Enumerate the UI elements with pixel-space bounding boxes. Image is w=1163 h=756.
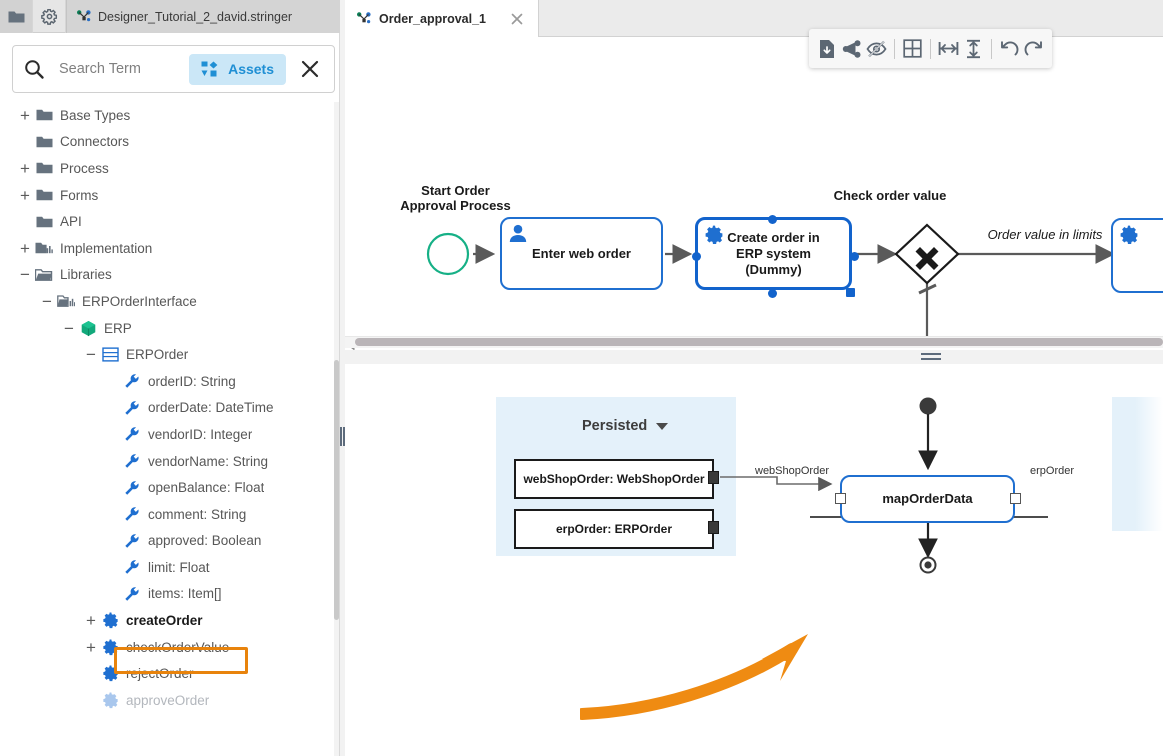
close-icon[interactable] [508, 10, 526, 28]
diagram-hscrollbar-thumb[interactable] [355, 338, 1163, 346]
tree-item-label: ERPOrder [126, 347, 188, 362]
toolbar-divider [991, 39, 992, 59]
tree-item-comment[interactable]: comment: String [0, 501, 339, 528]
tree-toggle-spacer [104, 585, 122, 603]
output-pin[interactable] [1010, 493, 1021, 504]
right-group-panel [1112, 397, 1163, 531]
tree-item-limit[interactable]: limit: Float [0, 554, 339, 581]
tree-item-label: Forms [60, 188, 98, 203]
hide-icon[interactable] [865, 34, 890, 64]
type-icon [100, 346, 120, 364]
tree-item-label: Base Types [60, 108, 130, 123]
tree-item-label: approveOrder [126, 693, 209, 708]
operation-icon [100, 638, 120, 656]
tree-item-erporder[interactable]: −ERPOrder [0, 341, 339, 368]
fit-width-icon[interactable] [936, 34, 961, 64]
tree-item-connectors[interactable]: Connectors [0, 129, 339, 156]
input-pin-label: webShopOrder [755, 465, 829, 477]
tree-item-label: Process [60, 161, 109, 176]
tree-item-createorder[interactable]: +createOrder [0, 607, 339, 634]
tree-toggle-spacer [16, 213, 34, 231]
toolbar-divider [930, 39, 931, 59]
assets-chip-label: Assets [228, 61, 274, 77]
share-icon[interactable] [840, 34, 865, 64]
folder-icon[interactable] [0, 0, 33, 33]
operation-icon [100, 612, 120, 630]
tree-item-approved[interactable]: approved: Boolean [0, 528, 339, 555]
tree-item-label: createOrder [126, 613, 203, 628]
grid-icon[interactable] [900, 34, 925, 64]
tree-item-label: items: Item[] [148, 586, 222, 601]
assets-filter-chip[interactable]: Assets [189, 54, 286, 85]
drag-annotation-arrow [580, 619, 900, 729]
tree-toggle-spacer [104, 532, 122, 550]
project-tab[interactable]: Designer_Tutorial_2_david.stringer [66, 0, 340, 33]
attribute-icon [122, 585, 142, 603]
gear-icon[interactable] [33, 0, 66, 33]
folder-icon [34, 213, 54, 231]
folder-icon [34, 133, 54, 151]
tree-item-vendorid[interactable]: vendorID: Integer [0, 421, 339, 448]
tree-item-label: ERPOrderInterface [82, 294, 197, 309]
tree-item-label: ERP [104, 321, 132, 336]
tree-item-label: orderID: String [148, 374, 236, 389]
tree-item-label: checkOrderValue [126, 640, 229, 655]
project-icon [77, 10, 91, 23]
left-explorer-panel: Designer_Tutorial_2_david.stringer Asset… [0, 0, 340, 756]
process-diagram-canvas[interactable]: Start Order Approval Process Check order… [345, 37, 1163, 340]
tree-item-libraries[interactable]: −Libraries [0, 262, 339, 289]
tree-item-label: API [60, 214, 82, 229]
fit-height-icon[interactable] [961, 34, 986, 64]
task-label: Create order in ERP system (Dummy) [727, 230, 819, 278]
task-label-l2: ERP system [736, 246, 811, 261]
package-icon [78, 319, 98, 337]
diagram-toolbar [809, 29, 1052, 68]
explorer-toolbar: Designer_Tutorial_2_david.stringer [0, 0, 340, 33]
tab-label: Order_approval_1 [379, 12, 486, 26]
tree-toggle-spacer [104, 452, 122, 470]
search-input[interactable] [57, 60, 189, 78]
tree-item-label: openBalance: Float [148, 480, 264, 495]
tree-item-label: comment: String [148, 507, 246, 522]
attribute-icon [122, 425, 142, 443]
process-connectors [345, 37, 1163, 340]
operation-icon [100, 691, 120, 709]
tab-order-approval-1[interactable]: Order_approval_1 [345, 0, 539, 37]
tree-toggle-spacer [104, 479, 122, 497]
assets-icon [201, 61, 220, 78]
tree-toggle-spacer [82, 665, 100, 683]
attribute-icon [122, 505, 142, 523]
task-label-l3: (Dummy) [745, 262, 801, 277]
tree-item-implementation[interactable]: +Implementation [0, 235, 339, 262]
tree-toggle-icon[interactable]: + [16, 239, 34, 257]
export-icon[interactable] [815, 34, 840, 64]
tree-item-label: Libraries [60, 267, 112, 282]
tree-item-label: approved: Boolean [148, 533, 261, 548]
tree-item-rejectorder[interactable]: rejectOrder [0, 660, 339, 687]
folder-icon [34, 106, 54, 124]
tree-toggle-icon[interactable]: − [60, 319, 78, 337]
tree-toggle-spacer [104, 399, 122, 417]
task-label-l1: Create order in [727, 230, 819, 245]
tree-item-orderid[interactable]: orderID: String [0, 368, 339, 395]
tree-toggle-icon[interactable]: − [82, 346, 100, 364]
resize-handle-top[interactable] [768, 215, 777, 224]
input-pin[interactable] [835, 493, 846, 504]
tree-item-items[interactable]: items: Item[] [0, 581, 339, 608]
tree-item-erporderinterface[interactable]: −ERPOrderInterface [0, 288, 339, 315]
task-enter-web-order[interactable]: Enter web order [500, 217, 663, 290]
tree-item-label: vendorName: String [148, 454, 268, 469]
tree-item-base-types[interactable]: +Base Types [0, 102, 339, 129]
operation-icon [100, 665, 120, 683]
task-label: Enter web order [532, 246, 631, 262]
application-window: Designer_Tutorial_2_david.stringer Asset… [0, 0, 1163, 756]
tree-item-label: rejectOrder [126, 666, 194, 681]
tree-toggle-icon[interactable]: + [82, 638, 100, 656]
toolbar-divider [894, 39, 895, 59]
folder-impl-icon [34, 239, 54, 257]
tree-item-checkordervalue[interactable]: +checkOrderValue [0, 634, 339, 661]
service-task-icon [704, 225, 724, 249]
tree-toggle-spacer [104, 425, 122, 443]
attribute-icon [122, 372, 142, 390]
process-icon [357, 12, 371, 25]
tree-item-label: orderDate: DateTime [148, 400, 274, 415]
attribute-icon [122, 452, 142, 470]
project-tab-label: Designer_Tutorial_2_david.stringer [98, 10, 292, 24]
close-icon[interactable] [296, 55, 324, 83]
tree-item-label: Connectors [60, 134, 129, 149]
tree-toggle-spacer [104, 558, 122, 576]
task-create-order-erp[interactable]: Create order in ERP system (Dummy) [695, 217, 852, 290]
tree-item-label: Implementation [60, 241, 152, 256]
tree-item-approveorder[interactable]: approveOrder [0, 687, 339, 714]
tree-item-vendorname[interactable]: vendorName: String [0, 448, 339, 475]
folder-icon [34, 186, 54, 204]
search-bar: Assets [12, 45, 335, 93]
redo-icon[interactable] [1021, 34, 1046, 64]
tree-item-label: vendorID: Integer [148, 427, 252, 442]
tree-toggle-icon[interactable]: + [16, 106, 34, 124]
folder-open-icon [34, 266, 54, 284]
sequence-flow-label: Order value in limits [965, 227, 1125, 242]
tree-item-forms[interactable]: +Forms [0, 182, 339, 209]
tree-item-label: limit: Float [148, 560, 210, 575]
attribute-icon [122, 532, 142, 550]
tree-toggle-icon[interactable]: + [16, 159, 34, 177]
activity-maporderdata[interactable]: mapOrderData [840, 475, 1015, 523]
tree-scrollbar-thumb[interactable] [334, 360, 339, 620]
tree-toggle-spacer [104, 372, 122, 390]
search-icon [23, 58, 45, 80]
tree-item-openbalance[interactable]: openBalance: Float [0, 474, 339, 501]
attribute-icon [122, 558, 142, 576]
asset-tree[interactable]: +Base TypesConnectors+Process+FormsAPI+I… [0, 102, 339, 756]
output-pin-label: erpOrder [1030, 465, 1074, 477]
mapping-diagram-canvas[interactable]: Persisted webShopOrder: WebShopOrder erp… [345, 364, 1163, 756]
resize-handle-right[interactable] [850, 252, 859, 261]
folder-icon [34, 159, 54, 177]
tree-item-api[interactable]: API [0, 208, 339, 235]
tree-toggle-icon[interactable]: + [82, 612, 100, 630]
resize-handle-left[interactable] [692, 252, 701, 261]
user-task-icon [508, 224, 528, 247]
tree-toggle-spacer [104, 505, 122, 523]
tree-toggle-icon[interactable]: + [16, 186, 34, 204]
undo-icon[interactable] [996, 34, 1021, 64]
resize-handle-bottom[interactable] [768, 289, 777, 298]
tree-toggle-icon[interactable]: − [16, 266, 34, 284]
horizontal-splitter[interactable] [345, 350, 1163, 364]
editor-area: Order_approval_1 [345, 0, 1163, 756]
tree-item-orderdate[interactable]: orderDate: DateTime [0, 395, 339, 422]
folder-lib-icon [56, 292, 76, 310]
tree-item-erp[interactable]: −ERP [0, 315, 339, 342]
activity-label: mapOrderData [882, 491, 972, 507]
horizontal-splitter-handle[interactable] [921, 353, 941, 361]
attribute-icon [122, 399, 142, 417]
attribute-icon [122, 479, 142, 497]
resize-handle-bottom-right[interactable] [846, 288, 855, 297]
tree-toggle-icon[interactable]: − [38, 292, 56, 310]
tree-item-process[interactable]: +Process [0, 155, 339, 182]
tree-toggle-spacer [82, 691, 100, 709]
tree-toggle-spacer [16, 133, 34, 151]
